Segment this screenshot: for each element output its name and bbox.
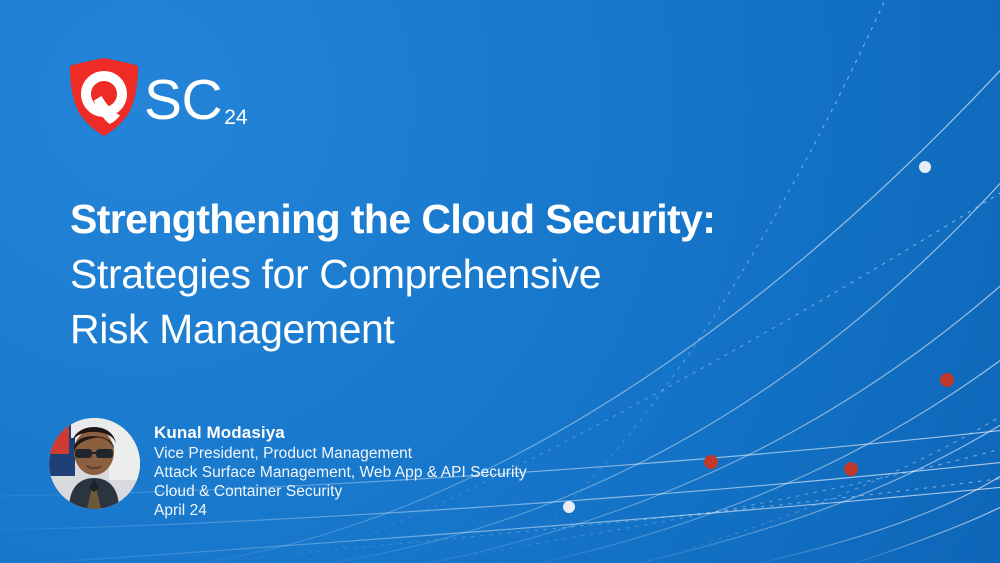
title-line-3: Risk Management bbox=[70, 302, 930, 357]
speaker-date: April 24 bbox=[154, 501, 527, 520]
qsc-logo: SC 24 bbox=[68, 58, 248, 136]
speaker-role-line-2: Attack Surface Management, Web App & API… bbox=[154, 463, 527, 482]
title-line-2: Strategies for Comprehensive bbox=[70, 247, 930, 302]
speaker-block: Kunal Modasiya Vice President, Product M… bbox=[49, 418, 527, 520]
logo-wordmark: SC bbox=[144, 72, 222, 129]
speaker-name: Kunal Modasiya bbox=[154, 422, 527, 444]
logo-year: 24 bbox=[224, 107, 247, 128]
avatar bbox=[49, 418, 140, 509]
speaker-role-line-3: Cloud & Container Security bbox=[154, 482, 527, 501]
title-line-1: Strengthening the Cloud Security: bbox=[70, 192, 930, 247]
speaker-role-line-1: Vice President, Product Management bbox=[154, 444, 527, 463]
speaker-details: Kunal Modasiya Vice President, Product M… bbox=[154, 418, 527, 520]
presentation-title-slide: SC 24 Strengthening the Cloud Security: … bbox=[0, 0, 1000, 563]
qualys-shield-icon bbox=[68, 58, 140, 136]
speaker-photo bbox=[49, 418, 140, 509]
page-title: Strengthening the Cloud Security: Strate… bbox=[70, 192, 930, 357]
red-node-dots bbox=[704, 373, 954, 476]
